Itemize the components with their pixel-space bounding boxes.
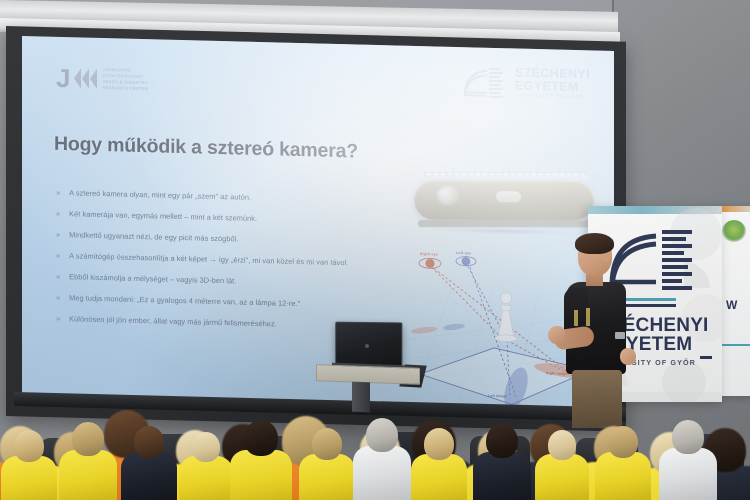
szechenyi-logo-text: SZÉCHENYI EGYETEM UNIVERSITY OF GYŐR bbox=[515, 66, 590, 99]
slide-bullet-item: »A számítógép összehasonlítja a két képe… bbox=[56, 250, 374, 270]
presenter-shirt-logo-1 bbox=[574, 310, 578, 326]
audience-member-head bbox=[486, 424, 518, 458]
banner-dash-mark bbox=[700, 356, 712, 359]
audience-member-body bbox=[121, 452, 177, 500]
audience-member-head bbox=[424, 428, 454, 460]
bullet-text: Ebből kiszámolja a mélységet – vagyis 3D… bbox=[69, 271, 236, 287]
bullet-text: Mindkettő ugyanazt nézi, de egy picit má… bbox=[69, 229, 238, 245]
audience-member-body bbox=[659, 448, 717, 500]
slide-bullet-list: »A sztereó kamera olyan, mint egy pár „s… bbox=[56, 187, 374, 342]
presenter-hair bbox=[575, 233, 614, 254]
audience-member-head bbox=[244, 420, 278, 456]
bullet-text: A számítógép összehasonlítja a két képet… bbox=[69, 250, 348, 269]
jk-logo-line-en-2: RESEARCH CENTER bbox=[102, 85, 148, 92]
camera-shadow bbox=[430, 226, 580, 236]
presenter-shirt-logo-2 bbox=[586, 308, 590, 326]
bullet-marker-icon: » bbox=[56, 292, 60, 303]
secondary-banner-logo-icon bbox=[722, 220, 746, 242]
presenter-hand-right bbox=[620, 348, 636, 365]
audience-member-head bbox=[548, 430, 576, 460]
slide-title: Hogy működik a sztereó kamera? bbox=[54, 133, 358, 164]
audience bbox=[0, 380, 750, 500]
bullet-marker-icon: » bbox=[56, 208, 60, 219]
bullet-marker-icon: » bbox=[56, 271, 60, 282]
camera-lens-icon bbox=[438, 187, 457, 204]
bullet-text: Meg tudja mondani: „Ez a gyalogos 4 méte… bbox=[69, 292, 300, 309]
audience-member-head bbox=[672, 420, 704, 454]
bullet-marker-icon: » bbox=[56, 250, 60, 261]
audience-member-body bbox=[535, 454, 589, 500]
slide-bullet-item: »Mindkettő ugyanazt nézi, de egy picit m… bbox=[56, 229, 374, 249]
slide-bullet-item: »Meg tudja mondani: „Ez a gyalogos 4 mét… bbox=[56, 292, 374, 312]
audience-member-body bbox=[353, 446, 411, 500]
audience-member-head bbox=[192, 432, 220, 462]
camera-sensor-slot bbox=[496, 191, 521, 203]
audience-member-body bbox=[179, 456, 233, 500]
laptop-logo-icon bbox=[365, 344, 369, 348]
audience-member-body bbox=[473, 452, 531, 500]
bullet-marker-icon: » bbox=[56, 187, 60, 198]
audience-member-head bbox=[312, 428, 342, 460]
diagram-label-right-eye: Right eye bbox=[420, 252, 438, 256]
audience-member-body bbox=[230, 450, 292, 500]
audience-member-body bbox=[1, 456, 57, 500]
szechenyi-logo-line3: UNIVERSITY OF GYŐR bbox=[515, 93, 590, 99]
audience-member-head bbox=[72, 422, 104, 456]
audience-member-body bbox=[59, 450, 117, 500]
bullet-text: Két kamerája van, egymás mellett – mint … bbox=[69, 208, 257, 224]
presenter-ear bbox=[603, 253, 610, 262]
bullet-text: A sztereó kamera olyan, mint egy pár „sz… bbox=[69, 187, 251, 203]
slide-bullet-item: »A sztereó kamera olyan, mint egy pár „s… bbox=[56, 187, 374, 207]
audience-member-body bbox=[595, 452, 651, 500]
slide-bullet-item: »Ebből kiszámolja a mélységet – vagyis 3… bbox=[56, 271, 374, 291]
szechenyi-logo-line2: EGYETEM bbox=[515, 79, 590, 93]
jk-logo-mark: J bbox=[56, 65, 69, 91]
bullet-text: Különösen jól jön ember, állat vagy más … bbox=[69, 313, 277, 330]
audience-member-head bbox=[134, 426, 164, 458]
szechenyi-egyetem-slide-logo: SZÉCHENYI EGYETEM UNIVERSITY OF GYŐR bbox=[463, 65, 590, 100]
bullet-marker-icon: » bbox=[56, 313, 60, 324]
jk-chevron-icon bbox=[74, 68, 97, 89]
audience-member-head bbox=[608, 426, 638, 458]
presenter-sleeve-badge bbox=[615, 332, 625, 339]
szechenyi-logo-bars-icon bbox=[489, 68, 503, 98]
bullet-marker-icon: » bbox=[56, 229, 60, 240]
jk-logo-text: JÁRMŰIPARI KUTATÓKÖZPONT VEHICLE INDUSTR… bbox=[102, 67, 148, 92]
szechenyi-logo-mark-icon bbox=[463, 66, 509, 97]
presenter-hand-left bbox=[548, 326, 565, 344]
banner-logo-bars-icon bbox=[662, 230, 692, 290]
audience-member-head bbox=[14, 430, 44, 462]
slide-bullet-item: »Két kamerája van, egymás mellett – mint… bbox=[56, 208, 374, 228]
diagram-label-left-eye: Left eye bbox=[456, 251, 471, 255]
secondary-banner-rule bbox=[720, 344, 750, 346]
audience-member-head bbox=[366, 418, 398, 452]
presentation-photo-scene: J JÁRMŰIPARI KUTATÓKÖZPONT VEHICLE INDUS… bbox=[0, 0, 750, 500]
vehicle-industry-research-center-logo: J JÁRMŰIPARI KUTATÓKÖZPONT VEHICLE INDUS… bbox=[56, 65, 149, 93]
audience-member-body bbox=[411, 454, 467, 500]
audience-member-body bbox=[299, 454, 355, 500]
secondary-banner-text: W bbox=[726, 298, 737, 312]
slide-bullet-item: »Különösen jól jön ember, állat vagy más… bbox=[56, 313, 374, 333]
